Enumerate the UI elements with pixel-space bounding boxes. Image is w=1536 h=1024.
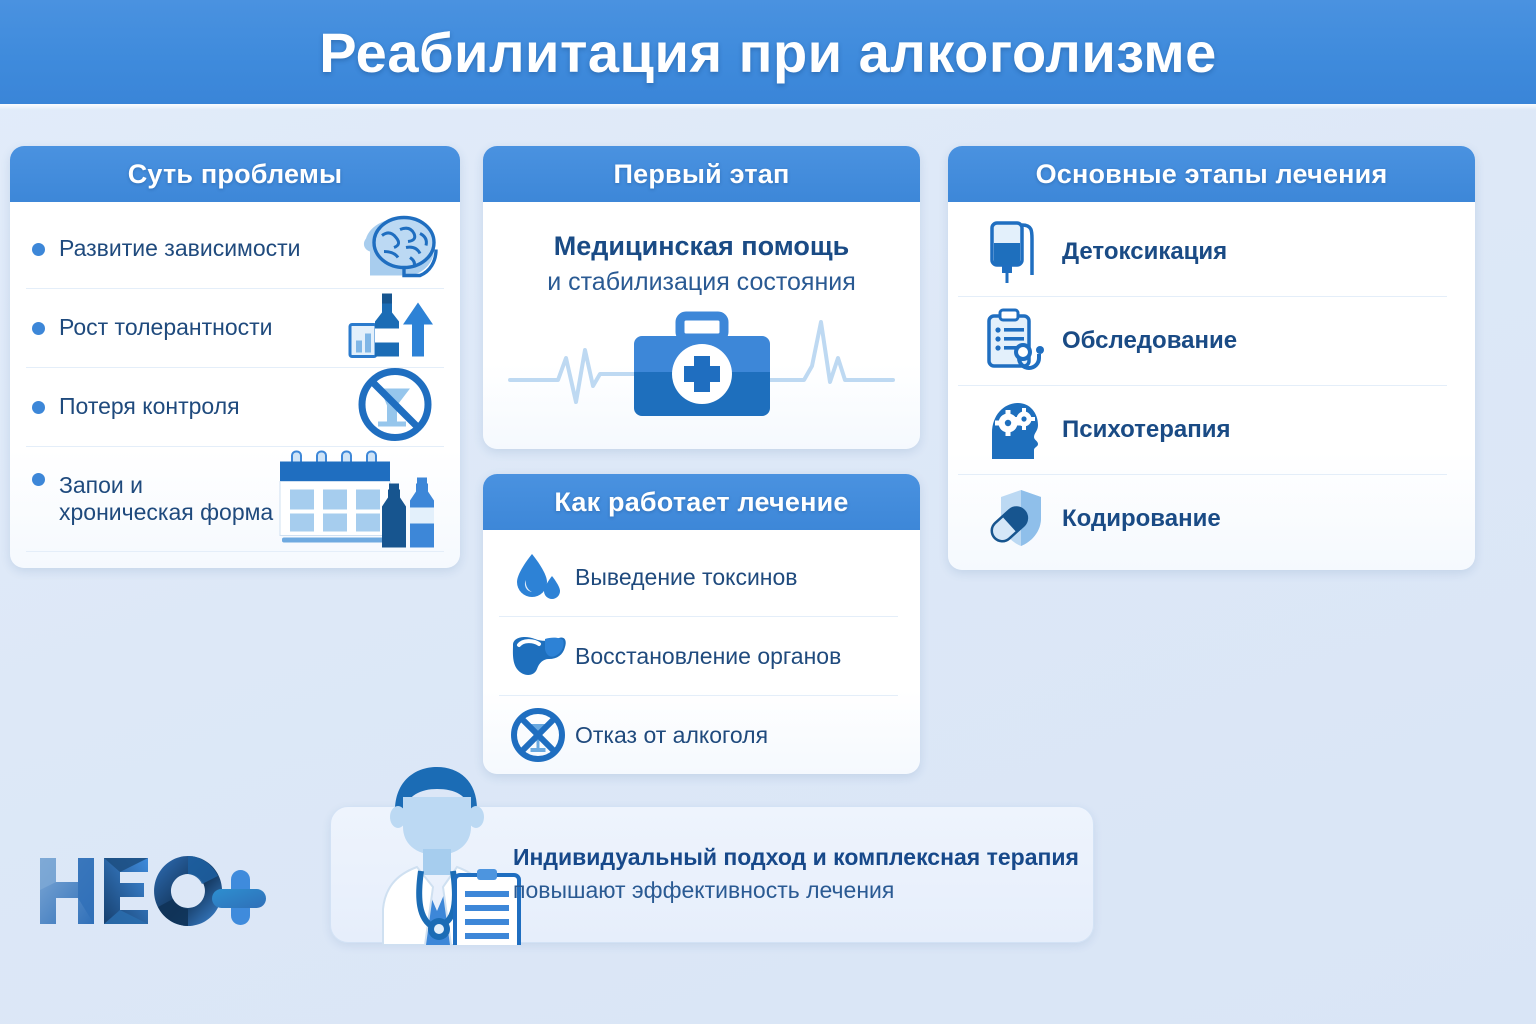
- list-item[interactable]: Выведение токсинов: [499, 538, 898, 617]
- list-item-label-line2: хроническая форма: [59, 499, 273, 525]
- calendar-bottles-icon: [274, 446, 444, 557]
- water-drop-icon: [507, 550, 569, 604]
- list-item-label: Психотерапия: [1062, 416, 1231, 444]
- first-stage-line2: и стабилизация состояния: [501, 264, 902, 302]
- header-edge-highlight: [0, 104, 1536, 110]
- list-item[interactable]: Запои и хроническая форма: [26, 447, 444, 552]
- problem-card-title: Суть проблемы: [128, 159, 343, 190]
- page-header: Реабилитация при алкоголизме: [0, 0, 1536, 104]
- list-item-label: Детоксикация: [1062, 238, 1227, 266]
- list-item-label: Рост толерантности: [59, 314, 273, 341]
- bullet-icon: [32, 473, 45, 486]
- summary-line2: повышают эффективность лечения: [513, 874, 1079, 907]
- page-title: Реабилитация при алкоголизме: [319, 20, 1217, 85]
- summary-line1: Индивидуальный подход и комплексная тера…: [513, 841, 1079, 874]
- list-item-label: Выведение токсинов: [575, 564, 798, 591]
- stages-card-header: Основные этапы лечения: [948, 146, 1475, 202]
- list-item[interactable]: Психотерапия: [958, 386, 1447, 475]
- list-item-label: Отказ от алкоголя: [575, 722, 768, 749]
- list-item-label: Кодирование: [1062, 505, 1221, 533]
- list-item[interactable]: Кодирование: [958, 475, 1447, 563]
- list-item-label: Потеря контроля: [59, 393, 240, 420]
- first-stage-card-header: Первый этап: [483, 146, 920, 202]
- liver-icon: [507, 633, 569, 679]
- bottle-up-arrow-icon: [346, 289, 442, 368]
- first-aid-kit-heartbeat-icon: [501, 308, 902, 428]
- summary-banner-text: Индивидуальный подход и комплексная тера…: [513, 841, 1079, 908]
- problem-list: Развитие зависимости Рост толерантности: [10, 202, 460, 552]
- list-item[interactable]: Потеря контроля: [26, 368, 444, 447]
- first-stage-card-title: Первый этап: [614, 159, 790, 190]
- list-item[interactable]: Развитие зависимости: [26, 210, 444, 289]
- stages-list: Детоксикация Обследование: [948, 202, 1475, 563]
- list-item[interactable]: Отказ от алкоголя: [499, 696, 898, 774]
- first-stage-content: Медицинская помощь и стабилизация состоя…: [483, 202, 920, 428]
- list-item-label: Запои и хроническая форма: [59, 472, 273, 526]
- list-item-label: Обследование: [1062, 327, 1237, 355]
- first-stage-card: Первый этап Медицинская помощь и стабили…: [483, 146, 920, 449]
- no-drink-circle-icon: [507, 706, 569, 764]
- bullet-icon: [32, 322, 45, 335]
- iv-drip-icon: [978, 217, 1052, 287]
- problem-card-header: Суть проблемы: [10, 146, 460, 202]
- how-treatment-list: Выведение токсинов Восстановление органо…: [483, 530, 920, 774]
- head-gears-icon: [978, 397, 1052, 463]
- summary-banner: Индивидуальный подход и комплексная тера…: [330, 806, 1094, 943]
- stages-card-title: Основные этапы лечения: [1036, 159, 1388, 190]
- bullet-icon: [32, 243, 45, 256]
- problem-card: Суть проблемы Развитие зависимости: [10, 146, 460, 568]
- pill-shield-icon: [978, 488, 1052, 550]
- list-item-label: Восстановление органов: [575, 643, 841, 670]
- how-treatment-card: Как работает лечение Выведение токсинов: [483, 474, 920, 774]
- stages-card: Основные этапы лечения Детоксикация: [948, 146, 1475, 570]
- list-item[interactable]: Рост толерантности: [26, 289, 444, 368]
- how-treatment-card-header: Как работает лечение: [483, 474, 920, 530]
- no-alcohol-icon: [352, 364, 438, 451]
- list-item-label-line1: Запои и: [59, 472, 143, 498]
- list-item[interactable]: Обследование: [958, 297, 1447, 386]
- first-stage-line1: Медицинская помощь: [501, 228, 902, 264]
- list-item-label: Развитие зависимости: [59, 235, 301, 262]
- bullet-icon: [32, 401, 45, 414]
- list-item[interactable]: Детоксикация: [958, 208, 1447, 297]
- list-item[interactable]: Восстановление органов: [499, 617, 898, 696]
- how-treatment-card-title: Как работает лечение: [554, 487, 848, 518]
- neo-plus-logo[interactable]: [36, 852, 266, 937]
- brain-head-icon: [354, 212, 446, 287]
- clipboard-stethoscope-icon: [978, 308, 1052, 374]
- doctor-clipboard-icon: [359, 759, 529, 950]
